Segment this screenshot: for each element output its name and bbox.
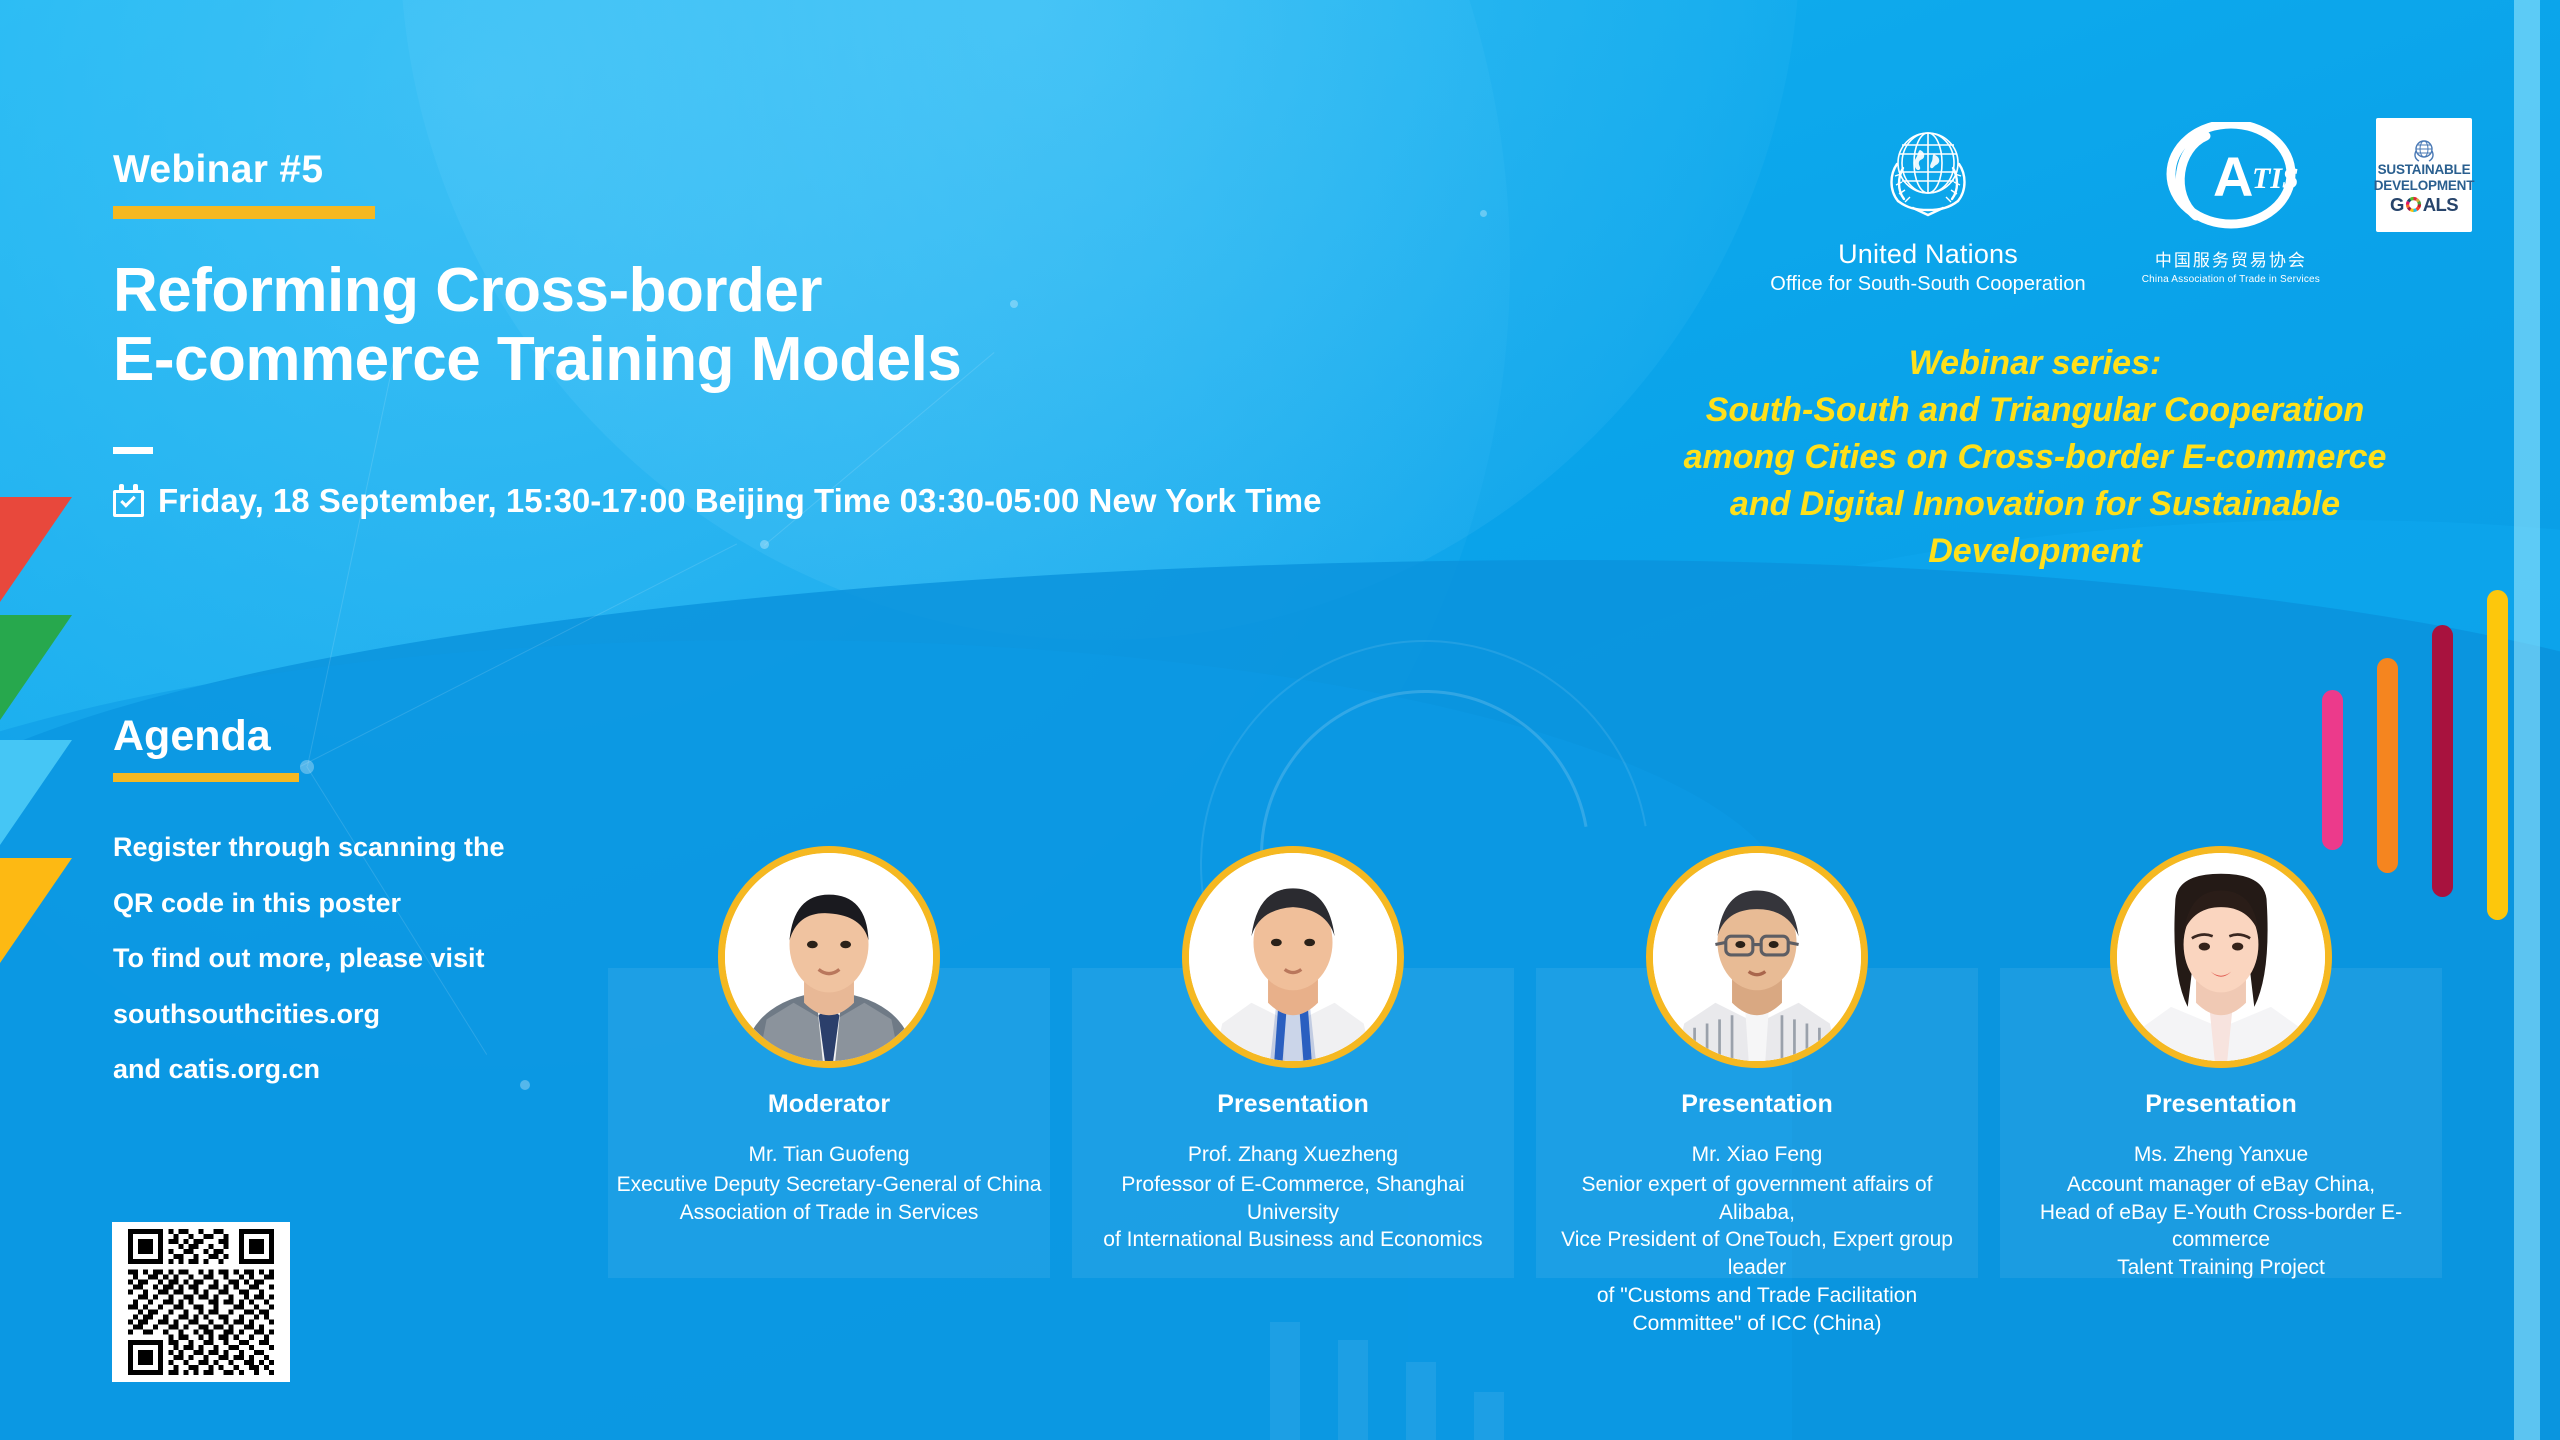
agenda-line-4[interactable]: southsouthcities.org [113, 987, 633, 1043]
event-datetime: Friday, 18 September, 15:30-17:00 Beijin… [113, 482, 1613, 520]
un-ossc-logo: United Nations Office for South-South Co… [1770, 118, 2085, 296]
title-underline-rule [113, 206, 375, 219]
webinar-number: Webinar #5 [113, 148, 1613, 192]
edge-triangle-red [0, 497, 72, 602]
edge-triangle-yellow [0, 858, 72, 963]
sdg-goals-als: ALS [2423, 194, 2458, 216]
speaker-title: Senior expert of government affairs of A… [1536, 1171, 1978, 1337]
sdg-color-wheel-icon [2404, 195, 2423, 214]
speaker-title-line1: Account manager of eBay China, [2006, 1171, 2436, 1199]
speaker-title-line1: Professor of E-Commerce, Shanghai Univer… [1078, 1171, 1508, 1226]
series-line1: Webinar series: [1595, 340, 2475, 387]
sdg-logo-line1: SUSTAINABLE [2378, 162, 2471, 177]
page-title-line1: Reforming Cross-border [113, 256, 1613, 325]
sdg-goals-g: G [2390, 194, 2404, 216]
webinar-series-block: Webinar series: South-South and Triangul… [1595, 340, 2475, 575]
title-divider-dash [113, 447, 153, 454]
portrait-photo-zheng-yanxue [2117, 853, 2325, 1061]
poster-header: Webinar #5 Reforming Cross-border E-comm… [113, 148, 1613, 520]
portrait-photo-zhang-xuezheng [1189, 853, 1397, 1061]
agenda-line-2: QR code in this poster [113, 876, 633, 932]
agenda-heading: Agenda [113, 712, 633, 761]
edge-bar-orange [2377, 658, 2398, 873]
avatar [718, 846, 940, 1068]
agenda-section: Agenda Register through scanning the QR … [113, 712, 633, 1098]
edge-bar-yellow [2487, 590, 2508, 920]
catis-logo-english: China Association of Trade in Services [2142, 274, 2320, 285]
page-title: Reforming Cross-border E-commerce Traini… [113, 256, 1613, 395]
agenda-line-1: Register through scanning the [113, 820, 633, 876]
speaker-title-line2: Head of eBay E-Youth Cross-border E-comm… [2006, 1199, 2436, 1254]
edge-triangle-green [0, 615, 72, 720]
united-nations-emblem-icon [1868, 118, 1988, 224]
avatar [2110, 846, 2332, 1068]
speaker-card-zheng-yanxue: Presentation Ms. Zheng Yanxue Account ma… [2000, 968, 2442, 1278]
speaker-title: Executive Deputy Secretary-General of Ch… [608, 1171, 1050, 1226]
logo-row: United Nations Office for South-South Co… [1770, 118, 2472, 296]
speaker-title-line2: of International Business and Economics [1078, 1226, 1508, 1254]
edge-triangle-cyan [0, 740, 72, 845]
speaker-title-line4: Committee" of ICC (China) [1542, 1310, 1972, 1338]
speaker-card-xiao-feng: Presentation Mr. Xiao Feng Senior expert… [1536, 968, 1978, 1278]
edge-light-stripe [2514, 0, 2540, 1440]
calendar-check-icon [113, 484, 144, 517]
speaker-title-line1: Senior expert of government affairs of A… [1542, 1171, 1972, 1226]
avatar [1182, 846, 1404, 1068]
agenda-line-5[interactable]: and catis.org.cn [113, 1042, 633, 1098]
speaker-name: Mr. Xiao Feng [1536, 1143, 1978, 1167]
series-line2: South-South and Triangular Cooperation [1595, 387, 2475, 434]
speaker-card-zhang-xuezheng: Presentation Prof. Zhang Xuezheng Profes… [1072, 968, 1514, 1278]
speaker-name: Mr. Tian Guofeng [608, 1143, 1050, 1167]
avatar [1646, 846, 1868, 1068]
edge-bar-group [2322, 590, 2508, 920]
un-emblem-small-icon [2411, 138, 2437, 162]
qr-code-icon [119, 1229, 283, 1375]
speaker-card-moderator: Moderator Mr. Tian Guofeng Executive Dep… [608, 968, 1050, 1278]
svg-text:TIS: TIS [2252, 162, 2299, 195]
sdg-logo-line2: DEVELOPMENT [2374, 178, 2475, 193]
speaker-role: Presentation [2000, 1090, 2442, 1119]
speaker-role: Presentation [1536, 1090, 1978, 1119]
speaker-name: Ms. Zheng Yanxue [2000, 1143, 2442, 1167]
series-line5: Development [1595, 528, 2475, 575]
speaker-title-line1: Executive Deputy Secretary-General of Ch… [614, 1171, 1044, 1199]
speaker-card-list: Moderator Mr. Tian Guofeng Executive Dep… [608, 968, 2442, 1278]
page-title-line2: E-commerce Training Models [113, 325, 1613, 394]
decorative-bar-motif [1270, 1322, 1504, 1440]
portrait-photo-xiao-feng [1653, 853, 1861, 1061]
speaker-title: Professor of E-Commerce, Shanghai Univer… [1072, 1171, 1514, 1254]
agenda-line-3: To find out more, please visit [113, 931, 633, 987]
edge-bar-pink [2322, 690, 2343, 850]
edge-bar-crimson [2432, 625, 2453, 897]
catis-logo: A TIS 中国服务贸易协会 China Association of Trad… [2142, 122, 2320, 285]
un-logo-name: United Nations [1770, 239, 2085, 270]
speaker-title-line3: Talent Training Project [2006, 1254, 2436, 1282]
catis-logo-chinese: 中国服务贸易协会 [2142, 246, 2320, 271]
agenda-text-block: Register through scanning the QR code in… [113, 820, 633, 1098]
speaker-title-line3: of "Customs and Trade Facilitation [1542, 1282, 1972, 1310]
speaker-role: Moderator [608, 1090, 1050, 1119]
speaker-title-line2: Vice President of OneTouch, Expert group… [1542, 1226, 1972, 1281]
speaker-role: Presentation [1072, 1090, 1514, 1119]
sdg-logo: SUSTAINABLE DEVELOPMENT G [2376, 118, 2472, 232]
svg-text:A: A [2213, 145, 2253, 208]
speaker-title: Account manager of eBay China, Head of e… [2000, 1171, 2442, 1282]
sdg-logo-goals: G ALS [2390, 194, 2458, 216]
speaker-name: Prof. Zhang Xuezheng [1072, 1143, 1514, 1167]
speaker-title-line2: Association of Trade in Services [614, 1199, 1044, 1227]
un-logo-subtitle: Office for South-South Cooperation [1770, 273, 2085, 296]
registration-qr-code[interactable] [112, 1222, 290, 1382]
agenda-underline-rule [113, 773, 299, 782]
series-line4: and Digital Innovation for Sustainable [1595, 481, 2475, 528]
series-line3: among Cities on Cross-border E-commerce [1595, 434, 2475, 481]
portrait-photo-moderator [725, 853, 933, 1061]
catis-emblem-icon: A TIS [2156, 122, 2306, 234]
event-datetime-text: Friday, 18 September, 15:30-17:00 Beijin… [158, 482, 1322, 520]
